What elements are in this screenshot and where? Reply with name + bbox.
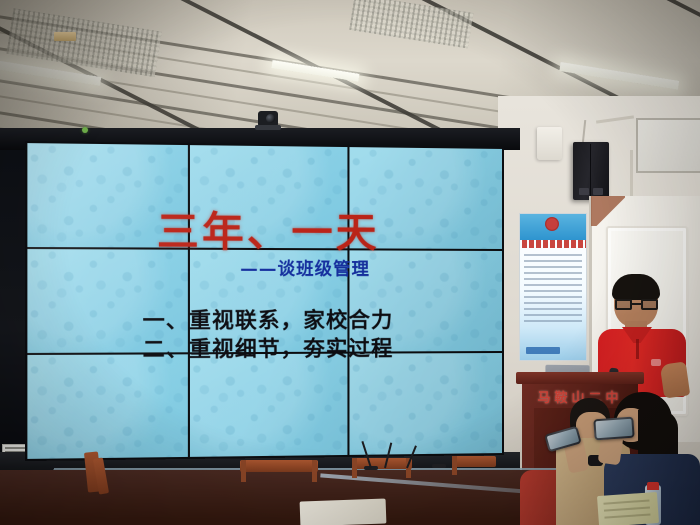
bottle-cap: [647, 482, 659, 490]
conference-room-photo: 三年、一天 ——谈班级管理 一、重视联系，家校合力 二、重视细节，夯实过程: [0, 0, 700, 525]
poster-body-text: [524, 254, 582, 326]
polo-chest-logo: [651, 359, 661, 366]
chair-leg: [312, 460, 317, 482]
chair-leg: [452, 456, 457, 475]
door-trim: [591, 196, 625, 226]
poster-footer-logo: [526, 347, 560, 354]
presenter-placket: [636, 339, 639, 359]
ptz-camera-lens: [266, 114, 275, 123]
video-wall-panel: [349, 250, 502, 351]
desk-microphone-base: [432, 464, 446, 468]
video-wall-panel: [27, 249, 188, 353]
poster-header-band: [520, 214, 586, 240]
video-wall-panel: [190, 354, 347, 457]
poster-title-text: [522, 240, 586, 248]
chair-leg: [241, 460, 246, 482]
glasses-icon: [615, 299, 658, 310]
video-wall-panel: [27, 354, 188, 459]
door-sign: [54, 32, 76, 41]
ptz-camera-body: [258, 111, 278, 126]
wall-mirror: [636, 118, 700, 173]
video-wall-panel: [349, 353, 502, 455]
podium-top-ledge: [516, 372, 644, 384]
video-wall-panel: [190, 250, 347, 353]
video-wall-panel: [27, 143, 188, 248]
ptz-camera-mount: [255, 125, 281, 130]
chair: [352, 458, 412, 469]
smartphone[interactable]: [593, 417, 634, 441]
chair-leg: [352, 458, 357, 478]
video-wall-panel-grid: 三年、一天 ——谈班级管理 一、重视联系，家校合力 二、重视细节，夯实过程: [27, 143, 502, 459]
door-indicator-dot: [82, 127, 88, 133]
chair: [240, 460, 318, 472]
wall-poster: [519, 213, 587, 361]
papers-on-table: [300, 499, 387, 525]
chair: [452, 456, 496, 467]
speaker-seam: [590, 144, 591, 198]
notepad: [597, 492, 659, 525]
wall-speaker: [573, 142, 609, 200]
speaker-driver: [579, 188, 589, 195]
phone-screen: [595, 419, 632, 438]
speaker-driver: [593, 188, 603, 195]
poster-emblem-icon: [545, 217, 559, 231]
video-wall-panel: [349, 147, 502, 249]
wall-conduit: [630, 150, 633, 198]
ptz-camera-icon: [255, 111, 281, 131]
video-wall-panel: [190, 145, 347, 248]
wall-device-box: [537, 127, 562, 160]
presenter-hair: [612, 274, 660, 300]
video-wall-display[interactable]: 三年、一天 ——谈班级管理 一、重视联系，家校合力 二、重视细节，夯实过程: [25, 141, 504, 461]
